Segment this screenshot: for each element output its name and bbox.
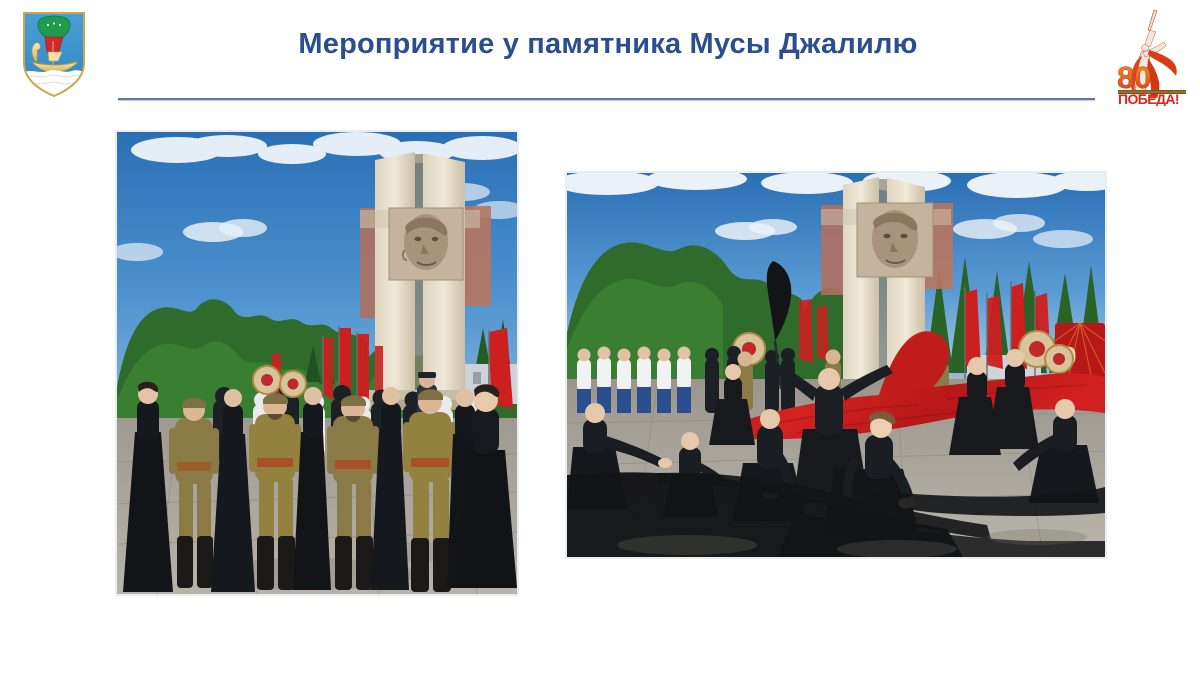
- victory-80-logo: 80 ПОБЕДА!: [1114, 2, 1192, 106]
- coat-of-arms: [18, 8, 90, 100]
- coat-of-arms-icon: [18, 8, 90, 100]
- victory-logo-caption: ПОБЕДА!: [1118, 91, 1179, 106]
- motherland-calls-icon: 80 ПОБЕДА!: [1114, 2, 1192, 106]
- page-title: Мероприятие у памятника Мусы Джалилю: [118, 28, 1098, 61]
- photo-red-cloth-performance-image: 9 МАЯ: [567, 173, 1105, 557]
- photo-red-cloth-performance[interactable]: 9 МАЯ: [566, 172, 1106, 558]
- photo-monument-soldiers-image: [117, 132, 517, 594]
- title-divider: [118, 98, 1095, 100]
- photo-monument-soldiers[interactable]: [116, 131, 518, 595]
- victory-logo-number: 80: [1117, 60, 1151, 95]
